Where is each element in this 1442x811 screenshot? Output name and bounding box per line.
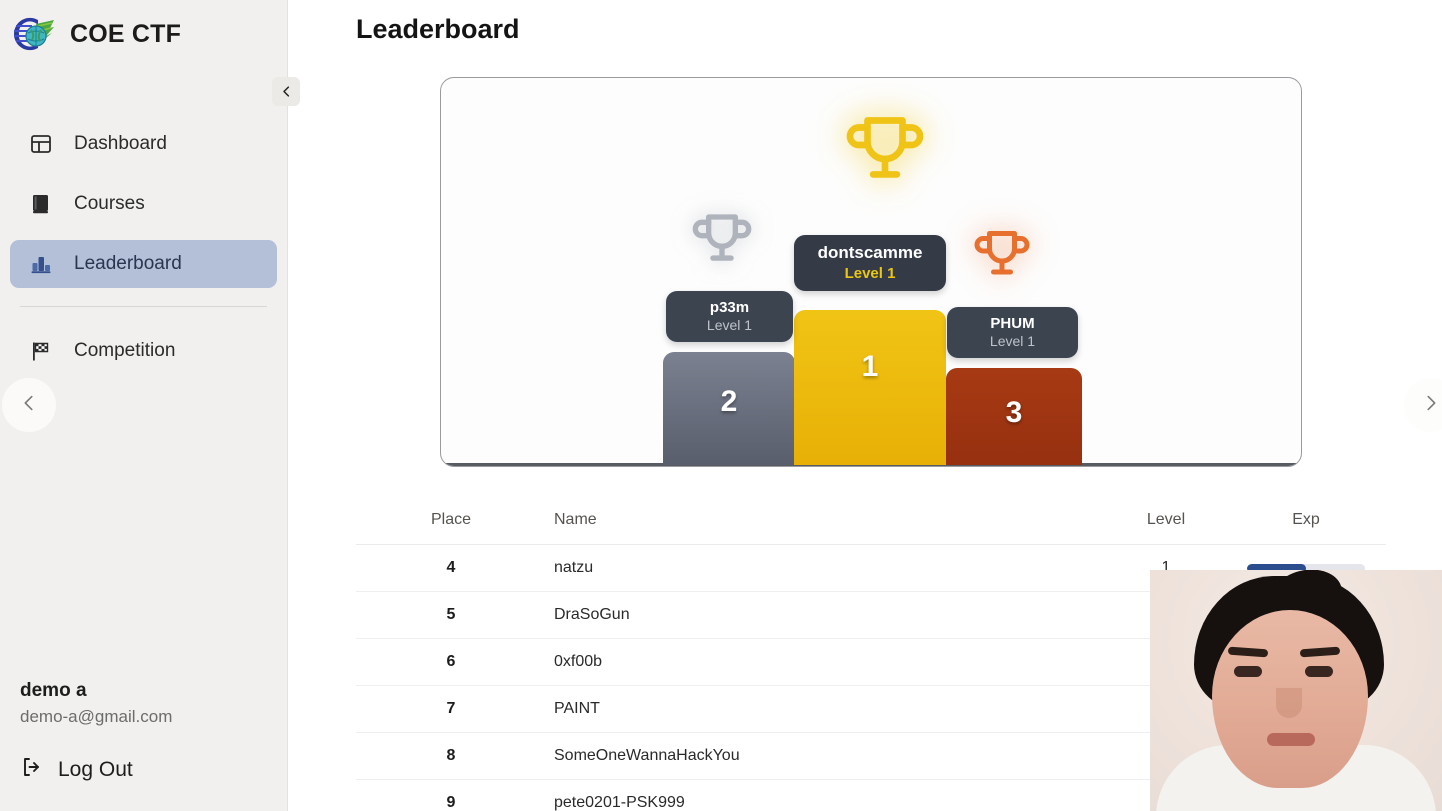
chevron-right-icon bbox=[1420, 392, 1442, 419]
column-header-level: Level bbox=[1106, 511, 1226, 529]
dashboard-layout-icon bbox=[28, 131, 54, 157]
sidebar-item-label: Competition bbox=[74, 340, 175, 362]
podium-namecard-third[interactable]: PHUM Level 1 bbox=[947, 307, 1078, 358]
cell-name: SomeOneWannaHackYou bbox=[546, 747, 1106, 765]
sidebar-item-courses[interactable]: Courses bbox=[10, 180, 277, 228]
podium-bars-icon bbox=[28, 251, 54, 277]
cell-name: PAINT bbox=[546, 700, 1106, 718]
podium-level: Level 1 bbox=[682, 317, 777, 333]
cell-name: 0xf00b bbox=[546, 653, 1106, 671]
coe-globe-wing-logo-icon bbox=[8, 14, 56, 54]
podium-card: dontscamme Level 1 p33m Level 1 PHUM Lev… bbox=[440, 77, 1302, 467]
podium-block-first: 1 bbox=[794, 310, 946, 465]
sidebar-nav: Dashboard Courses bbox=[0, 120, 287, 375]
cell-place: 6 bbox=[356, 653, 546, 671]
logout-button[interactable]: Log Out bbox=[20, 755, 268, 785]
podium-name: PHUM bbox=[963, 315, 1062, 332]
user-name: demo a bbox=[20, 680, 268, 702]
podium-namecard-second[interactable]: p33m Level 1 bbox=[666, 291, 793, 342]
podium-level: Level 1 bbox=[963, 333, 1062, 349]
podium-name: dontscamme bbox=[810, 243, 930, 263]
logout-label: Log Out bbox=[58, 758, 133, 782]
chevron-left-icon bbox=[279, 84, 294, 99]
podium-namecard-first[interactable]: dontscamme Level 1 bbox=[794, 235, 946, 291]
podium-block-second: 2 bbox=[663, 352, 795, 465]
sidebar-item-leaderboard[interactable]: Leaderboard bbox=[10, 240, 277, 288]
cell-place: 4 bbox=[356, 559, 546, 577]
podium-stage: dontscamme Level 1 p33m Level 1 PHUM Lev… bbox=[441, 78, 1301, 466]
sidebar-item-label: Courses bbox=[74, 193, 145, 215]
cell-place: 7 bbox=[356, 700, 546, 718]
book-icon bbox=[28, 191, 54, 217]
column-header-place: Place bbox=[356, 511, 546, 529]
brand: COE CTF bbox=[0, 0, 287, 58]
table-header-row: Place Name Level Exp bbox=[356, 495, 1386, 545]
cell-name: DraSoGun bbox=[546, 606, 1106, 624]
column-header-exp: Exp bbox=[1226, 511, 1386, 529]
podium-rank: 3 bbox=[1006, 396, 1023, 430]
page-title: Leaderboard bbox=[288, 0, 1442, 45]
podium-name: p33m bbox=[682, 299, 777, 316]
cell-place: 8 bbox=[356, 747, 546, 765]
sidebar-divider bbox=[20, 306, 267, 307]
brand-title: COE CTF bbox=[70, 20, 181, 49]
logout-arrow-icon bbox=[20, 755, 44, 785]
sidebar-item-label: Leaderboard bbox=[74, 253, 182, 275]
checkered-flag-icon bbox=[28, 338, 54, 364]
cell-place: 9 bbox=[356, 794, 546, 811]
podium-block-third: 3 bbox=[946, 368, 1082, 465]
sidebar-item-dashboard[interactable]: Dashboard bbox=[10, 120, 277, 168]
main-content: Leaderboard bbox=[288, 0, 1442, 811]
podium-level: Level 1 bbox=[810, 265, 930, 282]
cell-name: pete0201-PSK999 bbox=[546, 794, 1106, 811]
column-header-name: Name bbox=[546, 511, 1106, 529]
podium-rank: 2 bbox=[721, 385, 738, 419]
leaderboard-page: COE CTF Dashboard bbox=[0, 0, 1442, 811]
trophy-gold-icon bbox=[841, 110, 929, 199]
user-email: demo-a@gmail.com bbox=[20, 707, 268, 727]
cell-place: 5 bbox=[356, 606, 546, 624]
sidebar-item-label: Dashboard bbox=[74, 133, 167, 155]
user-block: demo a demo-a@gmail.com Log Out bbox=[20, 680, 268, 785]
trophy-silver-icon bbox=[689, 209, 755, 278]
page-prev-button[interactable] bbox=[2, 378, 56, 432]
podium-rank: 1 bbox=[862, 350, 879, 384]
sidebar-item-competition[interactable]: Competition bbox=[10, 327, 277, 375]
chevron-left-icon bbox=[18, 392, 40, 419]
cell-name: natzu bbox=[546, 559, 1106, 577]
sidebar-collapse-button[interactable] bbox=[272, 77, 300, 106]
webcam-overlay bbox=[1150, 570, 1442, 811]
trophy-bronze-icon bbox=[971, 226, 1033, 291]
